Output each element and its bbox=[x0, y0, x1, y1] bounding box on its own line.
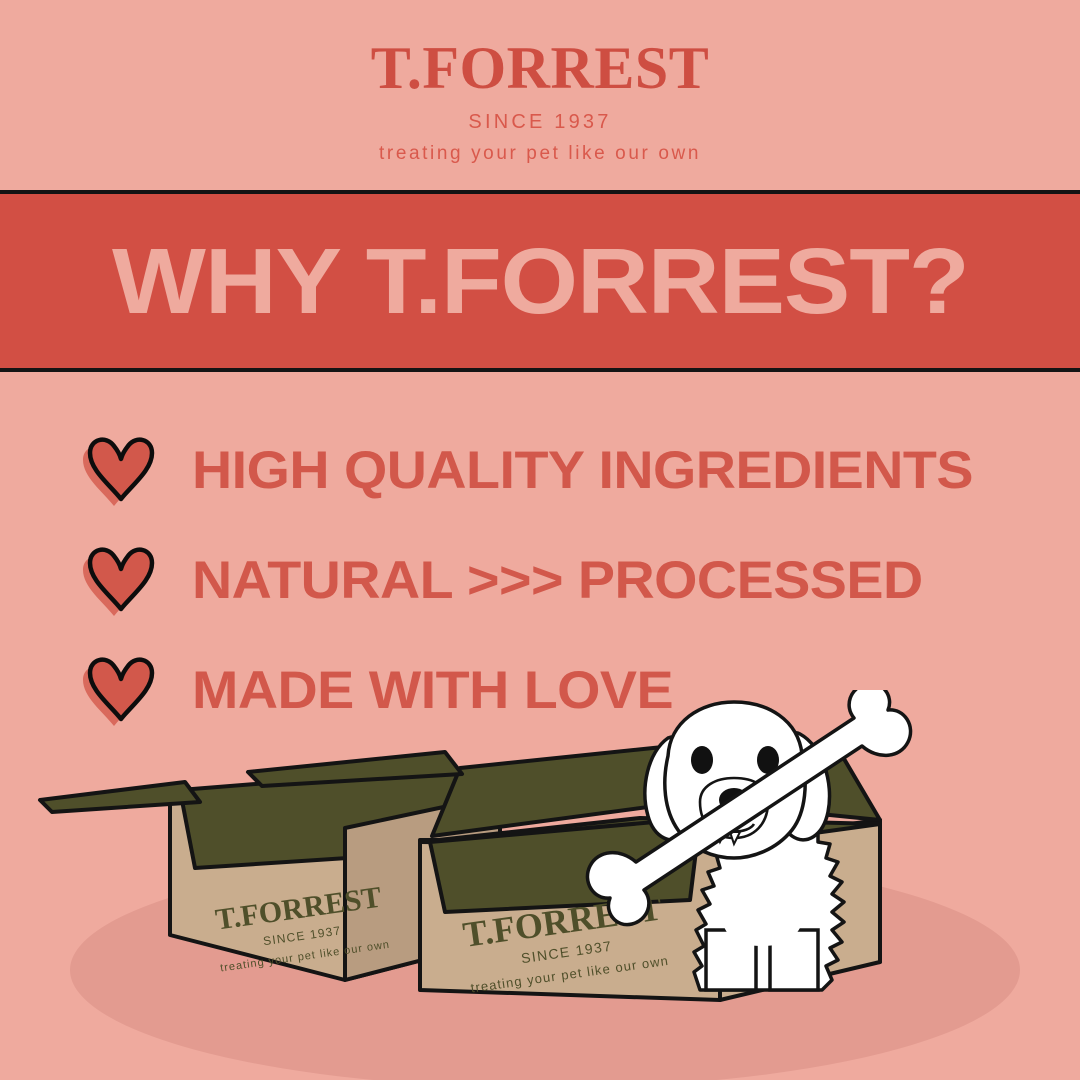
brand-tagline: treating your pet like our own bbox=[379, 143, 701, 165]
illustration-svg: T.FORREST SINCE 1937 treating your pet l… bbox=[0, 690, 1080, 1080]
headline-banner: WHY T.FORREST? bbox=[0, 190, 1080, 372]
illustration-scene: T.FORREST SINCE 1937 treating your pet l… bbox=[0, 690, 1080, 1080]
brand-name: T.FORREST bbox=[371, 40, 709, 97]
brand-header: T.FORREST SINCE 1937 treating your pet l… bbox=[0, 0, 1080, 190]
heart-icon bbox=[80, 537, 166, 623]
list-item: HIGH QUALITY INGREDIENTS bbox=[80, 415, 1030, 525]
poster-canvas: T.FORREST SINCE 1937 treating your pet l… bbox=[0, 0, 1080, 1080]
list-item-label: HIGH QUALITY INGREDIENTS bbox=[192, 440, 973, 501]
list-item: NATURAL >>> PROCESSED bbox=[80, 525, 1030, 635]
heart-icon bbox=[80, 427, 166, 513]
list-item-label: NATURAL >>> PROCESSED bbox=[192, 550, 923, 611]
banner-title: WHY T.FORREST? bbox=[112, 228, 969, 335]
brand-since-text: SINCE 1937 bbox=[468, 111, 611, 134]
dog-left-eye bbox=[691, 746, 713, 774]
